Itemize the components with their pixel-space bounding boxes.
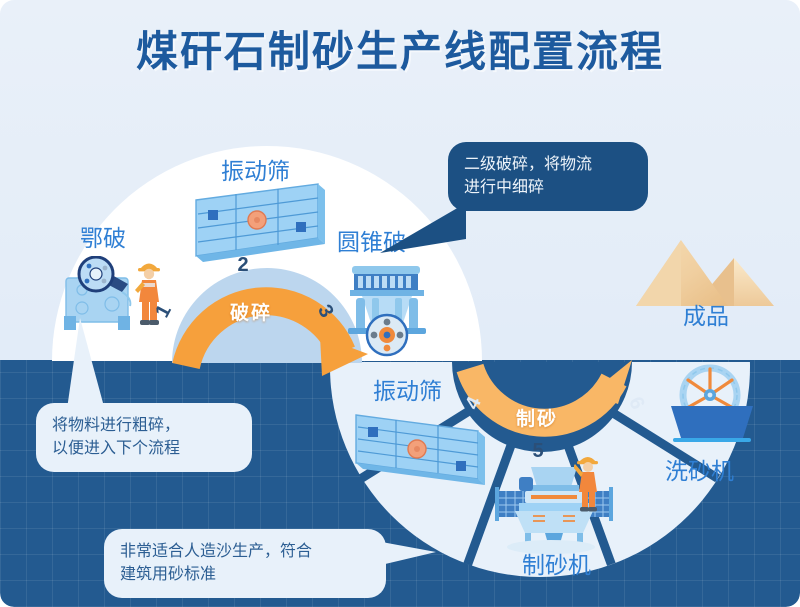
cone-crusher-icon	[340, 262, 440, 362]
step-label-4: 振动筛	[373, 372, 442, 406]
step-label-2: 振动筛	[221, 152, 290, 186]
sand-washer-icon	[655, 362, 765, 452]
step-label-6: 洗砂机	[665, 452, 734, 486]
crushing-arc: 破碎	[172, 276, 364, 368]
vibrating-screen-icon	[352, 405, 492, 500]
step-badge-2: 2	[231, 254, 255, 277]
callout-sand-standard: 非常适合人造沙生产，符合 建筑用砂标准	[104, 529, 386, 598]
callout-secondary-crushing: 二级破碎，将物流 进行中细碎	[448, 142, 648, 211]
infographic-canvas: 煤矸石制砂生产线配置流程 破碎 1 2 3 鄂破	[0, 0, 800, 607]
step-label-1: 鄂破	[80, 219, 126, 253]
sandmaking-arc-label: 制砂	[516, 404, 558, 431]
vibrating-screen-icon	[192, 182, 332, 277]
worker-figure-2-icon	[574, 452, 602, 519]
step-badge-5: 5	[526, 440, 550, 463]
sand-making-machine-icon	[485, 455, 625, 560]
page-title: 煤矸石制砂生产线配置流程	[0, 18, 800, 79]
product-label: 成品	[683, 297, 729, 331]
step-label-5: 制砂机	[522, 546, 591, 580]
crushing-arc-label: 破碎	[230, 298, 272, 325]
callout-coarse-crushing: 将物料进行粗碎， 以便进入下个流程	[36, 403, 252, 472]
